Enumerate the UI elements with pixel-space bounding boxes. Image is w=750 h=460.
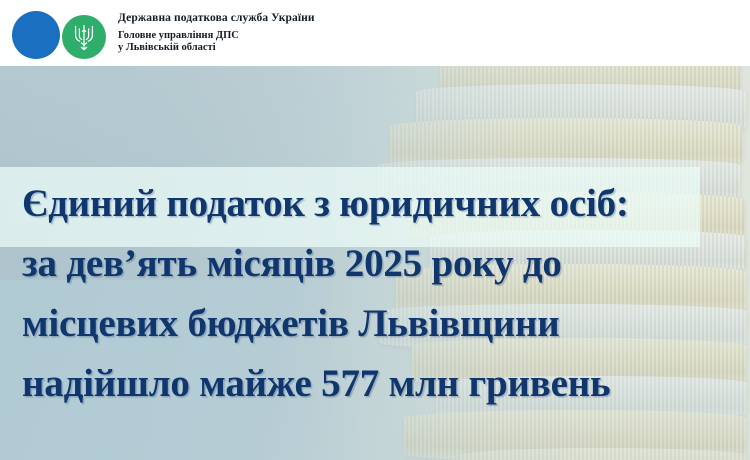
headline-line-2: за дев’ять місяців 2025 року до [22,234,734,294]
ukrainian-trident-icon [72,22,96,52]
site-header: Державна податкова служба України Головн… [0,0,750,66]
headline-line-4: надійшло майже 577 млн гривень [22,354,734,414]
blue-circle-icon [12,11,60,59]
hero-text-area: Єдиний податок з юридичних осіб: за дев’… [0,66,750,460]
agency-name-block: Державна податкова служба України Головн… [118,12,315,53]
headline-line-3: місцевих бюджетів Львівщини [22,294,734,354]
page-title: Єдиний податок з юридичних осіб: за дев’… [22,174,734,414]
department-name-line-1: Головне управління ДПС [118,30,315,42]
green-circle-icon [62,15,106,59]
department-name-line-2: у Львівській області [118,42,315,54]
agency-logo[interactable] [8,6,112,60]
headline-line-1: Єдиний податок з юридичних осіб: [22,174,734,234]
agency-name: Державна податкова служба України [118,12,315,25]
tax-service-news-banner: Єдиний податок з юридичних осіб: за дев’… [0,0,750,460]
